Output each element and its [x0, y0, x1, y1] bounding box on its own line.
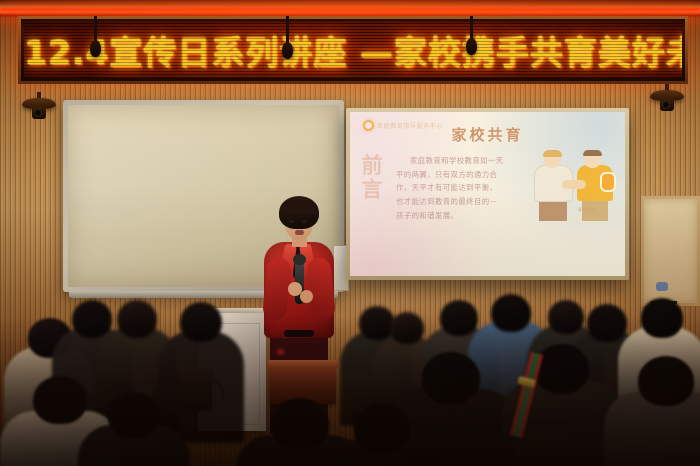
attendee-head: [390, 312, 424, 344]
attendee-head: [641, 298, 683, 338]
attendee-head: [422, 352, 480, 404]
person-left-legs: [539, 199, 567, 221]
microphone-head-icon: [90, 40, 101, 57]
microphone-head-icon: [282, 42, 293, 59]
led-banner-frame: 12.4宣传日系列讲座 —家校携手共育美好未来: [18, 16, 688, 84]
attendee-head: [108, 392, 160, 438]
lecture-hall-photo: 12.4宣传日系列讲座 —家校携手共育美好未来 家庭教育: [0, 0, 700, 466]
person-left-hair: [543, 150, 562, 157]
led-banner-screen: 12.4宣传日系列讲座 —家校携手共育美好未来: [24, 22, 682, 78]
attendee-16: [604, 356, 700, 466]
presenter-hand-right: [300, 290, 313, 303]
led-banner-text: 12.4宣传日系列讲座 —家校携手共育美好未来: [24, 26, 682, 74]
hanging-microphone-3: [470, 16, 473, 40]
wall-mounted-camera-right: [650, 84, 684, 112]
attendee-head: [117, 300, 157, 338]
slide-body-text: 家庭教育和学校教育如一天平的两翼，只有双方的通力合作，天平才有可能达到平衡，也才…: [396, 154, 504, 222]
slide-title: 家校共育: [350, 124, 625, 145]
attendee-head: [638, 356, 694, 406]
flip-chart-mark: [656, 282, 668, 291]
wall-mounted-camera-left: [22, 92, 56, 120]
attendee-head: [535, 344, 589, 394]
presenter-eye-left: [289, 220, 294, 223]
attendee-head: [491, 294, 531, 332]
flip-chart-board: [641, 196, 700, 306]
presentation-slide: 家庭教育指导服务中心 家校共育 前言 家庭教育和学校教育如一天平的两翼，只有双方…: [350, 112, 625, 276]
presenter-mouth: [295, 230, 304, 235]
projection-screen: 家庭教育指导服务中心 家校共育 前言 家庭教育和学校教育如一天平的两翼，只有双方…: [346, 108, 629, 280]
microphone-head-icon: [293, 254, 306, 265]
presenter-eye-right: [302, 220, 307, 223]
camera-lens-glass-icon: [34, 109, 42, 117]
slide-vertical-label: 前言: [364, 154, 386, 202]
slide-illustration-handshake: 家校携手: [522, 150, 622, 222]
handshake-icon: [562, 180, 586, 189]
attendee-18: [320, 404, 444, 466]
attendee-6: [78, 392, 190, 466]
hanging-microphone-2: [286, 16, 289, 44]
presenter-fringe: [280, 200, 318, 214]
attendee-head: [354, 404, 410, 454]
flip-chart-paper: [644, 199, 697, 303]
presenter-belt: [284, 330, 314, 337]
person-right-hair: [583, 150, 602, 156]
microphone-head-icon: [466, 38, 477, 55]
hanging-microphone-1: [94, 16, 97, 42]
camera-lens-glass-icon: [662, 101, 670, 109]
illustration-caption: 家校携手: [578, 207, 595, 213]
attendee-head: [180, 302, 222, 342]
person-right-bag: [600, 172, 616, 192]
